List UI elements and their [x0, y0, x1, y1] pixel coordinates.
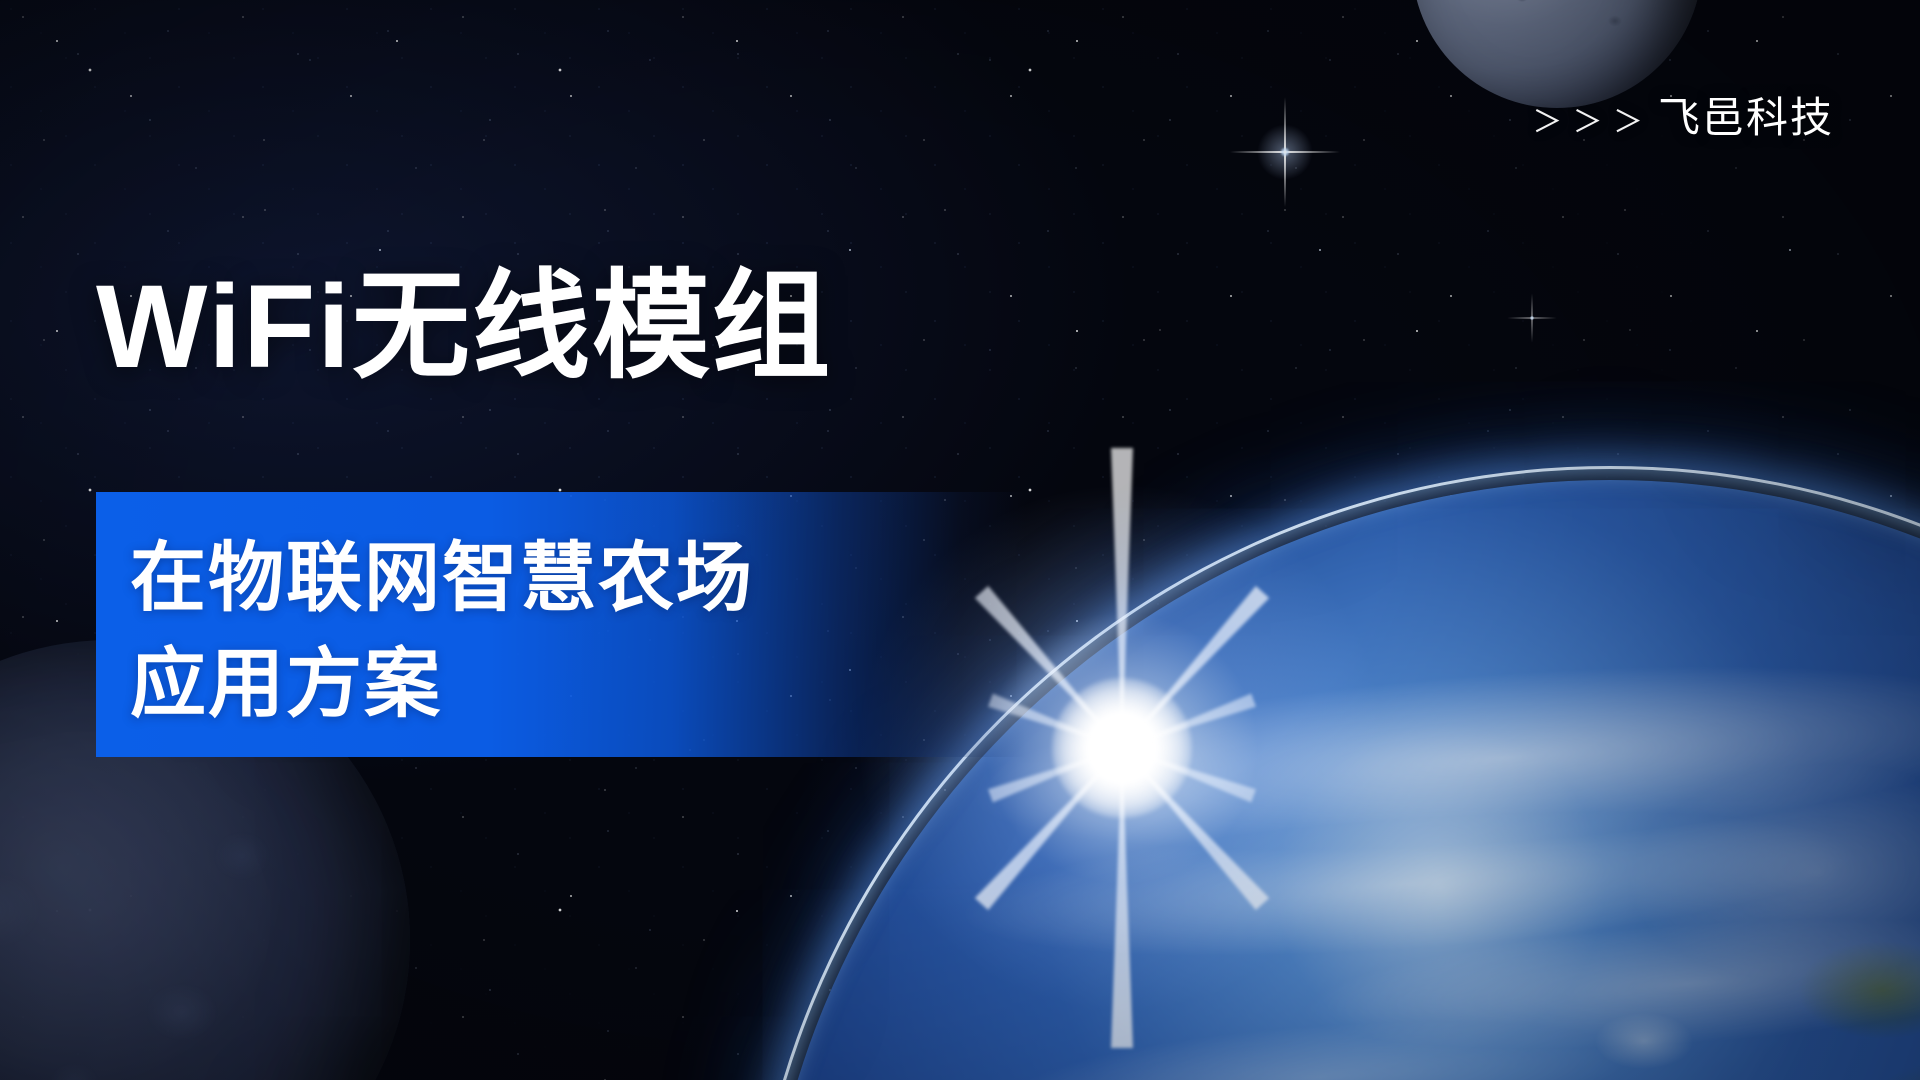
slide-canvas: ＞ ＞ ＞ 飞邑科技 WiFi无线模组 在物联网智慧农场 应用方案 [0, 0, 1920, 1080]
brand-lockup: ＞ ＞ ＞ 飞邑科技 [1532, 84, 1834, 145]
subtitle-line-2: 应用方案 [130, 632, 1026, 738]
page-title: WiFi无线模组 [96, 268, 832, 386]
subtitle-banner: 在物联网智慧农场 应用方案 [96, 492, 1026, 757]
chevron-right-icons: ＞ ＞ ＞ [1532, 97, 1658, 141]
subtitle-line-1: 在物联网智慧农场 [130, 526, 1026, 632]
brand-name: 飞邑科技 [1658, 84, 1834, 145]
